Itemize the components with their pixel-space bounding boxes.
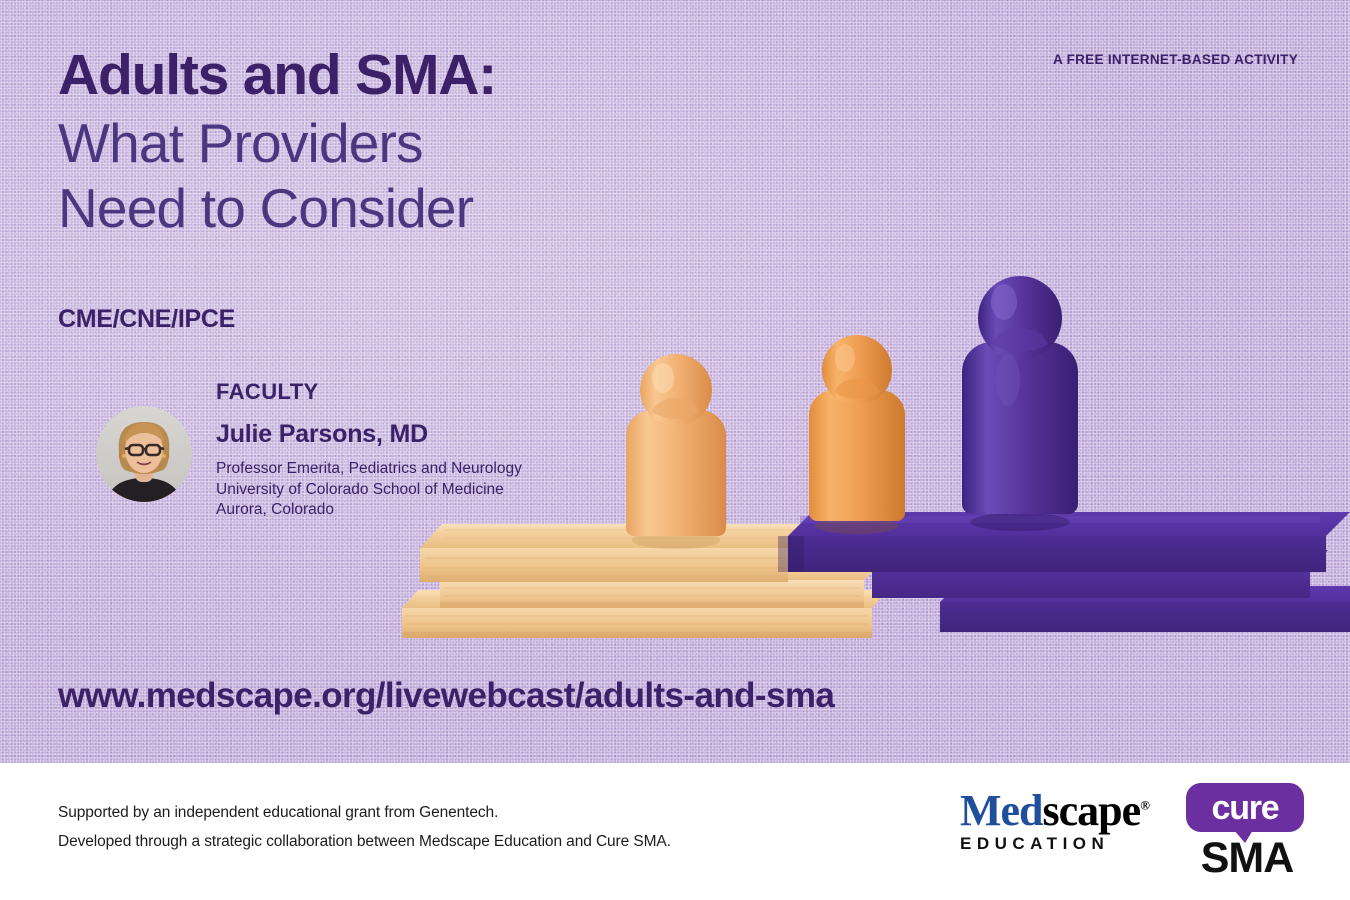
medscape-subtitle: EDUCATION — [960, 834, 1165, 854]
footer-disclosures: Supported by an independent educational … — [58, 798, 671, 857]
cure-sma-acronym: SMA — [1186, 837, 1308, 880]
faculty-affiliation-line-2: University of Colorado School of Medicin… — [216, 480, 522, 501]
medscape-education-logo: Medscape® EDUCATION — [960, 789, 1165, 854]
peg-figure-left — [626, 354, 726, 549]
faculty-name: Julie Parsons, MD — [216, 420, 428, 449]
faculty-affiliation-line-1: Professor Emerita, Pediatrics and Neurol… — [216, 459, 522, 480]
footer-collaboration-line: Developed through a strategic collaborat… — [58, 827, 671, 856]
activity-kicker: A FREE INTERNET-BASED ACTIVITY — [1053, 52, 1298, 67]
credit-types: CME/CNE/IPCE — [58, 305, 235, 334]
page-title: Adults and SMA: What Providers Need to C… — [58, 46, 496, 240]
wooden-figures-illustration — [380, 250, 1350, 670]
title-line-3: Need to Consider — [58, 176, 496, 240]
speech-bubble-icon: cure — [1186, 783, 1304, 832]
title-line-1: Adults and SMA: — [58, 46, 496, 105]
cure-sma-logo: cure SMA — [1186, 783, 1308, 880]
activity-url[interactable]: www.medscape.org/livewebcast/adults-and-… — [58, 676, 834, 716]
footer-bar: Supported by an independent educational … — [0, 763, 1350, 900]
medscape-wordmark: Medscape® — [960, 789, 1165, 833]
faculty-avatar — [96, 406, 192, 502]
faculty-affiliation-line-3: Aurora, Colorado — [216, 500, 522, 521]
hero-panel: A FREE INTERNET-BASED ACTIVITY Adults an… — [0, 0, 1350, 763]
faculty-label: FACULTY — [216, 379, 319, 405]
poster-canvas: A FREE INTERNET-BASED ACTIVITY Adults an… — [0, 0, 1350, 900]
peg-figure-right — [962, 276, 1078, 531]
medscape-word-scape: scape — [1043, 786, 1141, 835]
footer-support-line: Supported by an independent educational … — [58, 798, 671, 827]
registered-trademark-icon: ® — [1140, 797, 1150, 812]
title-line-2: What Providers — [58, 111, 496, 175]
faculty-affiliation: Professor Emerita, Pediatrics and Neurol… — [216, 459, 522, 521]
medscape-word-med: Med — [960, 786, 1043, 835]
peg-figure-middle — [809, 335, 905, 534]
cure-sma-bubble-text: cure — [1211, 791, 1278, 825]
